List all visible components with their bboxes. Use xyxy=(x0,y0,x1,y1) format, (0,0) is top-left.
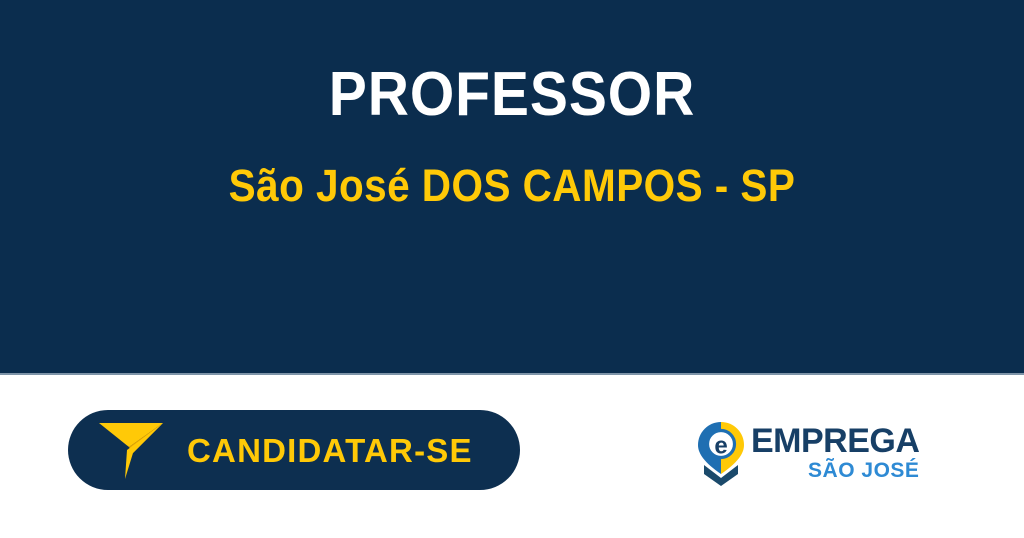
brand-subtitle: SÃO JOSÉ xyxy=(808,460,919,481)
page-title: PROFESSOR xyxy=(41,64,983,126)
job-location-subtitle: São José DOS CAMPOS - SP xyxy=(51,163,973,208)
apply-button[interactable]: CANDIDATAR-SE xyxy=(68,410,520,490)
job-posting-card: PROFESSOR São José DOS CAMPOS - SP CANDI… xyxy=(0,0,1024,538)
brand-logo[interactable]: e EMPREGA SÃO JOSÉ xyxy=(697,421,902,491)
hero-banner: PROFESSOR São José DOS CAMPOS - SP xyxy=(0,0,1024,375)
map-pin-e-icon: e xyxy=(697,421,745,487)
brand-name: EMPREGA xyxy=(751,424,919,458)
brand-wordmark: EMPREGA SÃO JOSÉ xyxy=(751,421,919,481)
svg-text:e: e xyxy=(714,433,727,460)
send-icon xyxy=(68,421,163,479)
apply-button-label: CANDIDATAR-SE xyxy=(187,434,473,467)
